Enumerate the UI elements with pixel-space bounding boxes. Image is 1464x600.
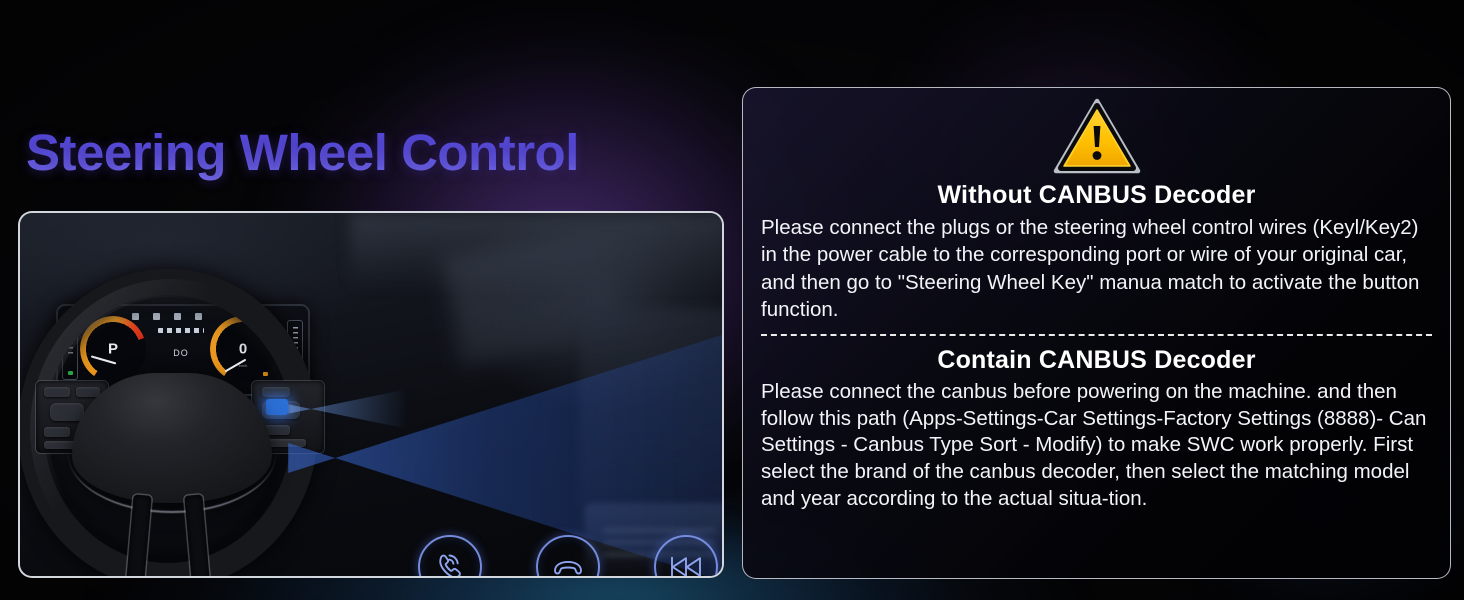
section-contain-canbus: Contain CANBUS Decoder Please connect th… — [757, 346, 1436, 512]
section-body: Please connect the plugs or the steering… — [757, 214, 1436, 323]
section-body: Please connect the canbus before powerin… — [757, 379, 1436, 512]
phone-hangup-icon — [550, 549, 586, 576]
swc-left-btn-3 — [44, 427, 70, 437]
warning-icon-wrapper — [757, 97, 1436, 177]
page-title: Steering Wheel Control — [26, 123, 579, 182]
photo-inner: P DO 0 km/h — [20, 213, 722, 576]
section-heading: Contain CANBUS Decoder — [757, 346, 1436, 375]
dashboard-ledge — [350, 213, 722, 291]
phone-answer-icon — [433, 550, 467, 576]
promo-banner: Steering Wheel Control — [0, 0, 1464, 600]
section-divider — [761, 334, 1432, 336]
swc-highlighted-button — [266, 399, 288, 415]
warning-triangle-icon — [1052, 97, 1142, 177]
swc-right-btn-1 — [262, 387, 290, 397]
steering-wheel-photo-panel: P DO 0 km/h — [18, 211, 724, 578]
swc-left-btn-1 — [44, 387, 70, 397]
swc-left-dpad — [50, 403, 84, 421]
section-heading: Without CANBUS Decoder — [757, 181, 1436, 210]
previous-track-icon — [668, 552, 704, 576]
section-without-canbus: Without CANBUS Decoder Please connect th… — [757, 181, 1436, 323]
info-panel: Without CANBUS Decoder Please connect th… — [742, 87, 1451, 579]
